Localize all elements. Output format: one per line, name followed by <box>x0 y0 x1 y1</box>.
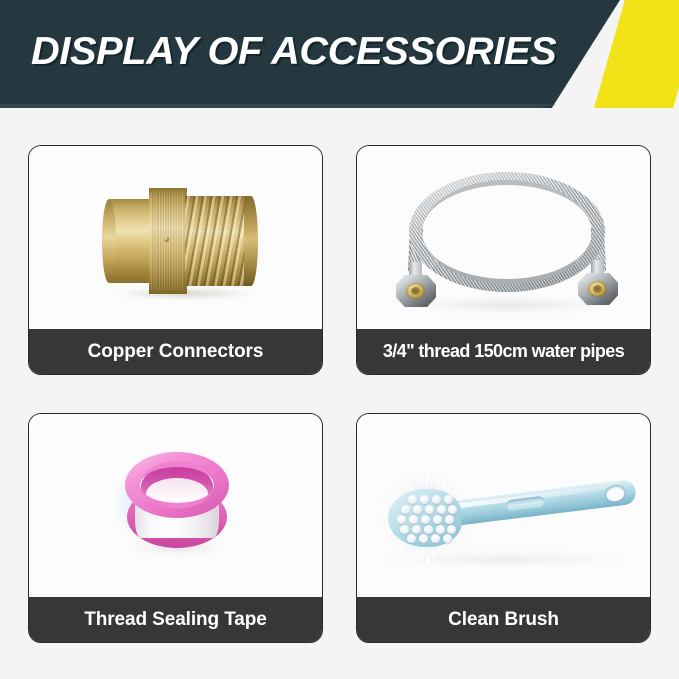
bristle-tuft <box>425 505 434 514</box>
header-banner: DISPLAY OF ACCESSORIES <box>0 0 679 108</box>
bristle-tuft <box>401 505 410 514</box>
accessory-card-thread-sealing-tape[interactable]: Thread Sealing Tape <box>28 413 323 643</box>
hose-fitting-right <box>577 260 619 306</box>
bristle-tuft <box>445 515 454 524</box>
bristle-tuft <box>437 505 446 514</box>
bristle-tuft <box>421 515 430 524</box>
hose-sheen <box>409 172 605 292</box>
bristle-tuft <box>397 515 406 524</box>
accessory-card-clean-brush[interactable]: Clean Brush <box>356 413 651 643</box>
bristle-tuft <box>407 534 416 543</box>
braided-water-hose-photo <box>357 146 650 329</box>
bristle-tuft <box>409 515 418 524</box>
card-caption-copper-connectors: Copper Connectors <box>29 329 322 374</box>
hose-fitting-left <box>395 262 437 308</box>
tape-rim-shading <box>125 452 229 518</box>
hose-illustration <box>391 170 623 320</box>
bristle-tuft <box>408 495 417 504</box>
connector-end-cap <box>102 199 116 283</box>
connector-illustration <box>107 188 259 294</box>
bristle-tuft <box>436 525 445 534</box>
bristle-tuft <box>432 495 441 504</box>
accessory-card-copper-connectors[interactable]: Copper Connectors <box>28 145 323 375</box>
accessory-card-grid: Copper Connectors <box>28 145 651 643</box>
bristle-tuft <box>433 515 442 524</box>
bristle-tuft <box>444 495 453 504</box>
bristle-tuft <box>412 525 421 534</box>
fitting-bore <box>593 285 602 293</box>
bristle-tuft <box>443 534 452 543</box>
pink-ptfe-thread-seal-tape-photo <box>29 414 322 597</box>
brush-bristle-tufts <box>388 489 462 547</box>
page-title: DISPLAY OF ACCESSORIES <box>31 25 556 79</box>
connector-thread-end <box>244 196 258 286</box>
tape-illustration <box>121 452 233 556</box>
connector-thread-ridges <box>185 196 251 286</box>
bristle-tuft <box>413 505 422 514</box>
banner-underline <box>0 104 556 108</box>
accessory-card-water-pipes[interactable]: 3/4" thread 150cm water pipes <box>356 145 651 375</box>
bristle-tuft <box>424 525 433 534</box>
bristle-tuft <box>400 525 409 534</box>
bristle-tuft <box>448 505 457 514</box>
bristle-tuft <box>420 495 429 504</box>
bristle-tuft <box>431 534 440 543</box>
blue-cleaning-brush-photo <box>357 414 650 597</box>
card-caption-thread-sealing-tape: Thread Sealing Tape <box>29 597 322 642</box>
connector-threaded-section <box>185 196 251 286</box>
connector-dimple-mark <box>164 237 169 242</box>
card-caption-water-pipes: 3/4" thread 150cm water pipes <box>357 329 650 374</box>
brush-illustration <box>371 472 643 564</box>
fitting-bore <box>411 287 420 295</box>
bristle-tuft <box>447 525 456 534</box>
brass-copper-connector-photo <box>29 146 322 329</box>
card-caption-clean-brush: Clean Brush <box>357 597 650 642</box>
bristle-tuft <box>419 534 428 543</box>
